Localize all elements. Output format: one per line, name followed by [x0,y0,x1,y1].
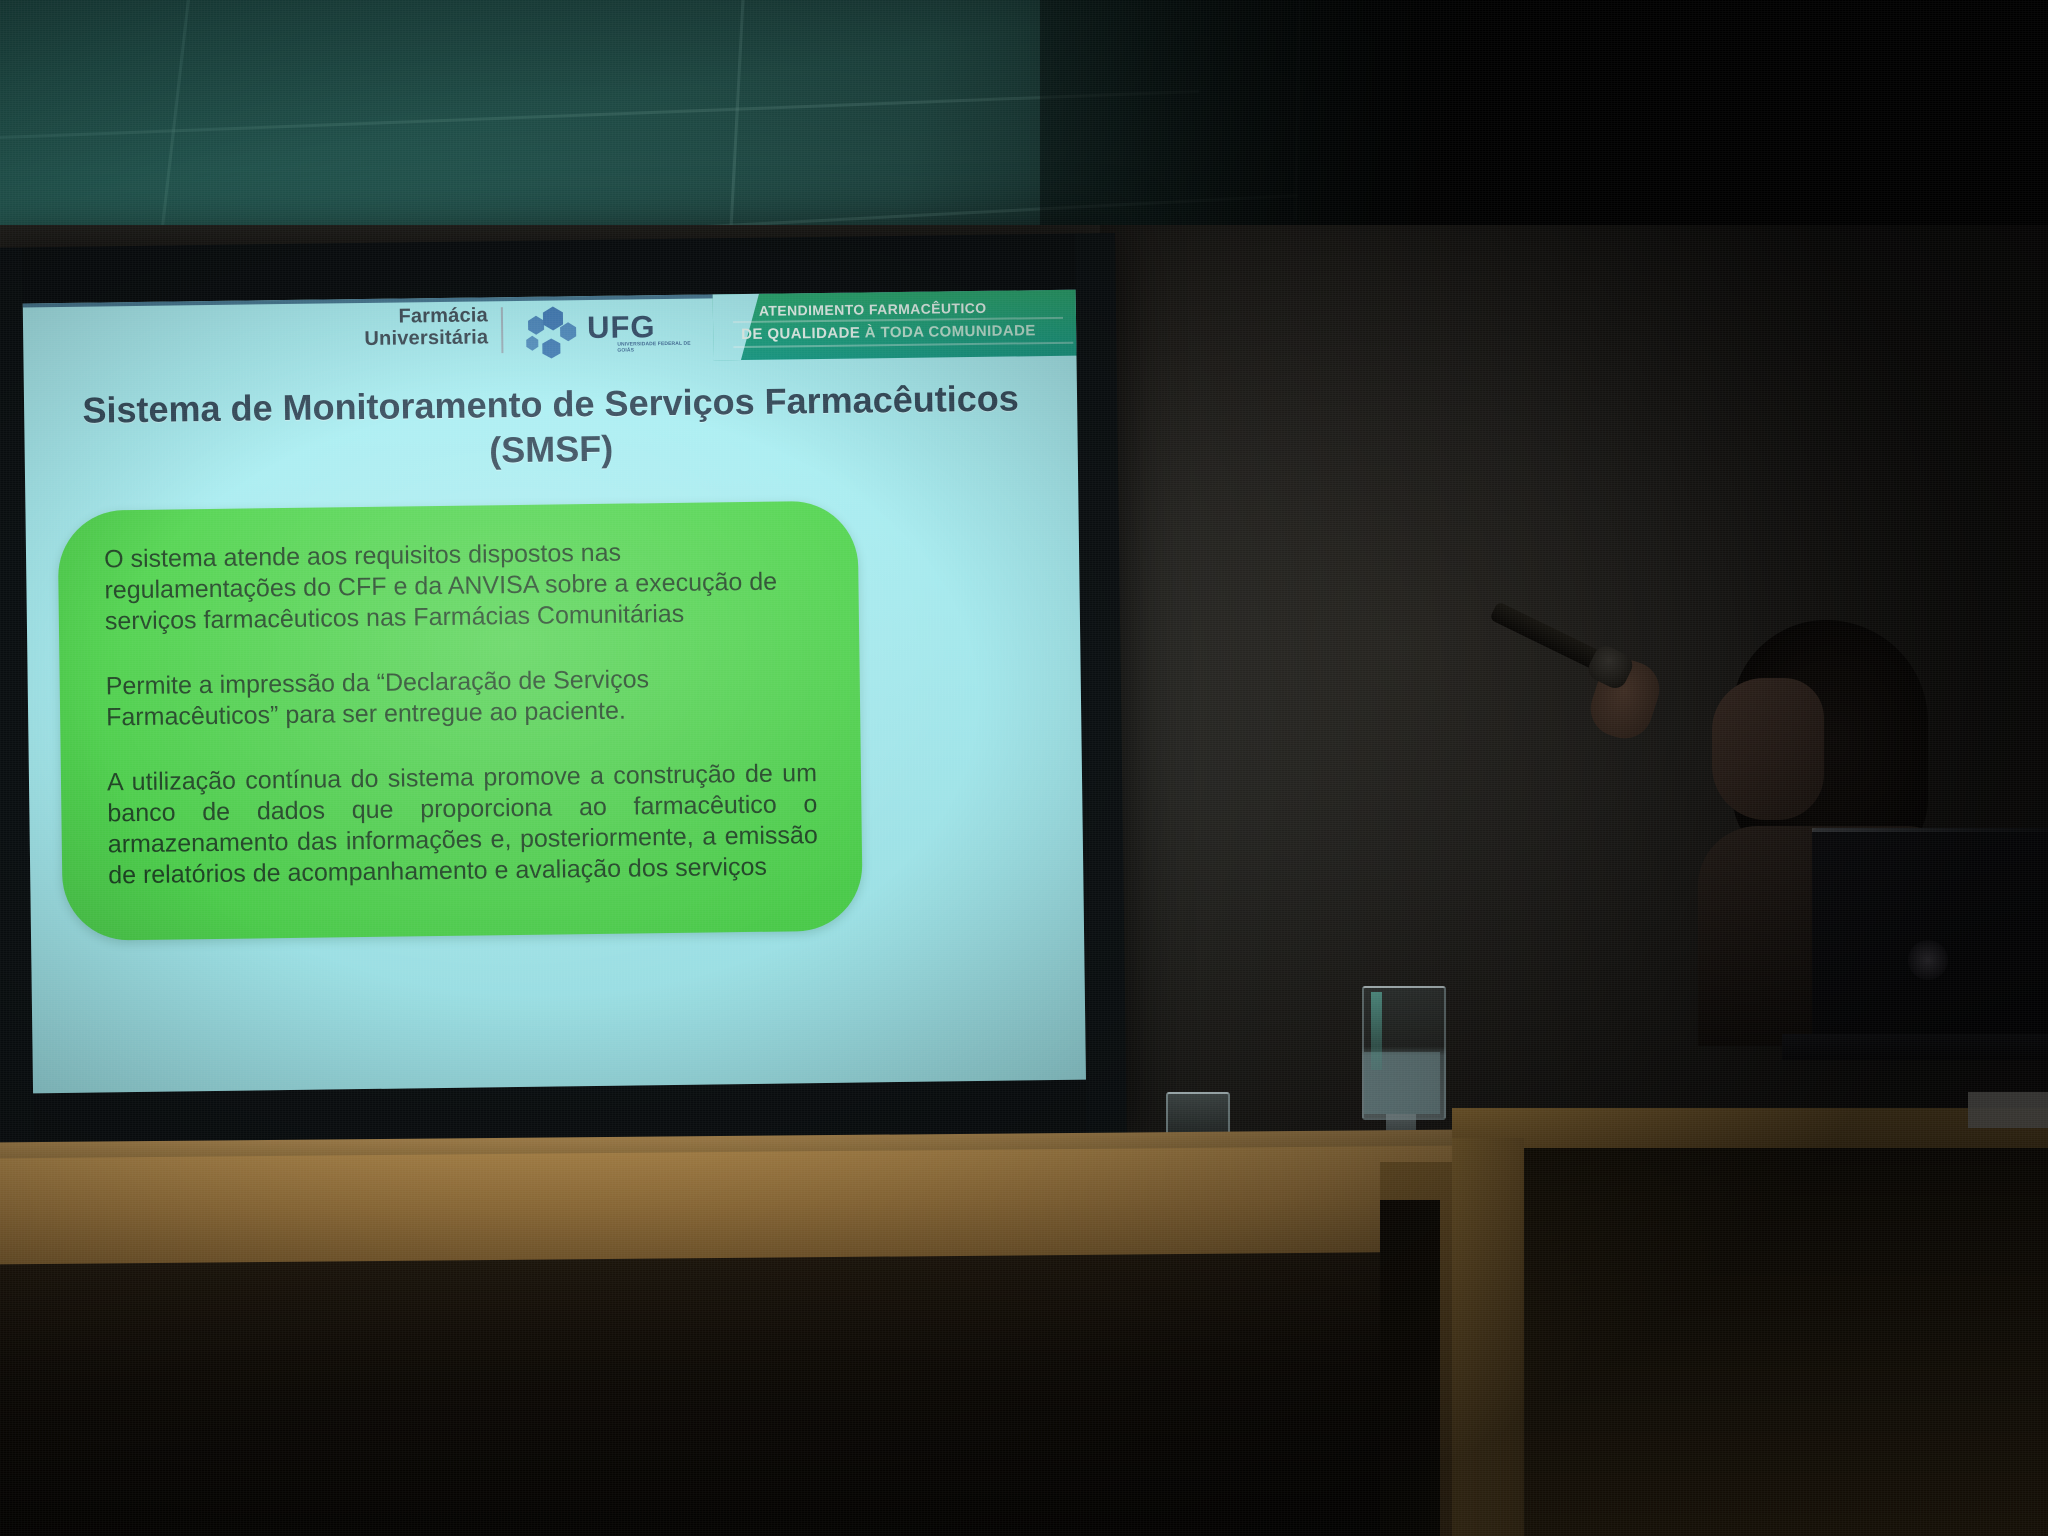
content-paragraph: O sistema atende aos requisitos disposto… [104,535,815,637]
banner-line-2a: DE QUALIDADE [741,324,860,343]
slide-content-box: O sistema atende aos requisitos disposto… [57,501,863,941]
header-divider [501,307,504,353]
laptop-computer[interactable] [1812,828,2048,1058]
org-line-2: Universitária [364,327,488,350]
university-pharmacy-label: Farmácia Universitária [364,305,488,350]
ufg-logo: UFG UNIVERSIDADE FEDERAL DE GOIÁS [521,303,707,359]
table-under-shadow [0,1252,1461,1536]
header-banner: ATENDIMENTO FARMACÊUTICO DE QUALIDADE À … [713,290,1077,361]
banner-line-2: DE QUALIDADE À TODA COMUNIDADE [741,322,1036,343]
ceiling-dark-region [1040,0,2048,250]
projection-screen: Farmácia Universitária UFG [0,233,1127,1153]
presentation-slide: Farmácia Universitária UFG [23,290,1086,1094]
laptop-base [1782,1034,2048,1060]
ceiling-panels [0,0,2048,240]
content-paragraph: A utilização contínua do sistema promove… [107,758,819,891]
banner-line-1: ATENDIMENTO FARMACÊUTICO [759,300,987,319]
laptop-lid [1812,828,2048,1038]
laptop-brand-logo [1908,940,1948,980]
podium-top-rail [1452,1108,2048,1148]
laptop-lid-edge [1812,828,2048,832]
slide-content-text: O sistema atende aos requisitos disposto… [104,535,818,891]
svg-text:UFG: UFG [587,309,656,345]
slide-title: Sistema de Monitoramento de Serviços Far… [24,376,1078,479]
podium-recess [1524,1148,2048,1536]
banner-rule [733,342,1073,348]
wooden-podium [1452,1108,2048,1536]
paper-sheet [1968,1092,2048,1128]
presenter-face [1712,678,1824,820]
ufg-logo-subtitle: UNIVERSIDADE FEDERAL DE GOIÁS [617,341,703,355]
slide-header: Farmácia Universitária UFG [23,290,1077,370]
org-line-1: Farmácia [364,305,488,328]
lecture-hall-scene: Farmácia Universitária UFG [0,0,2048,1536]
podium-left-post [1452,1138,1524,1536]
glass-highlight [1371,992,1382,1070]
content-paragraph: Permite a impressão da “Declaração de Se… [106,662,817,733]
banner-line-2b: À TODA COMUNIDADE [865,322,1036,341]
podium-side-shadow [1380,1200,1440,1536]
